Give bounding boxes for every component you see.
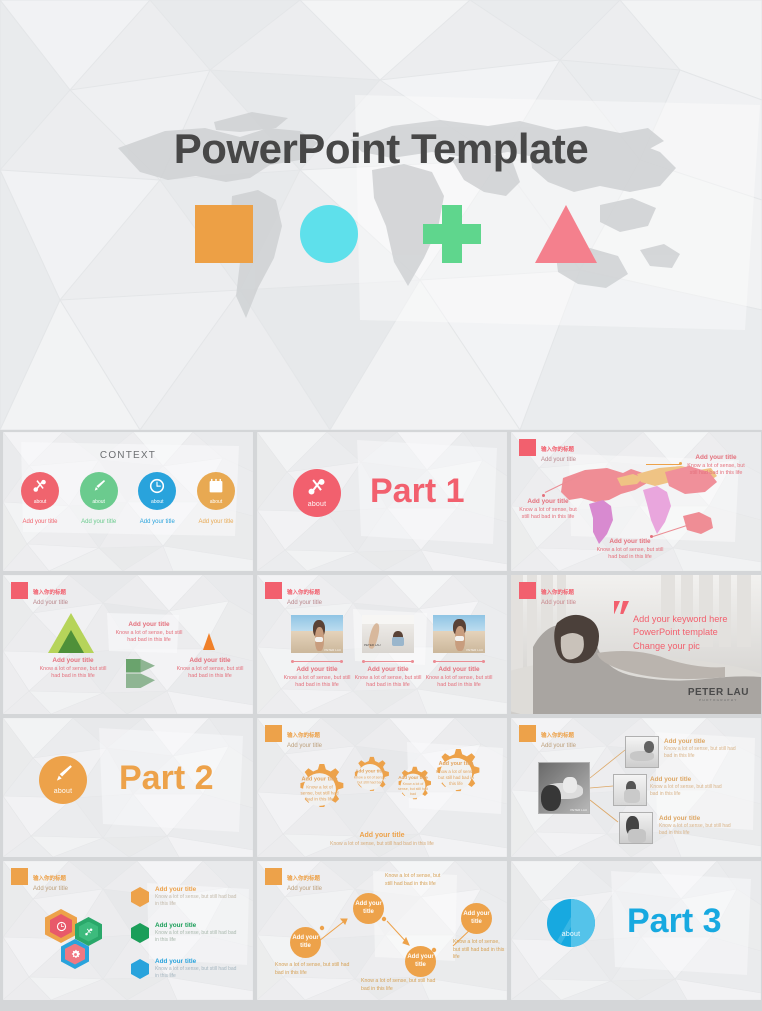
gear-shape[interactable]: Add your title Know a lot of sense, but …	[430, 748, 482, 800]
pie-icon	[547, 899, 595, 947]
caption-title: Add your title	[425, 666, 493, 674]
context-item-label: Add your title	[17, 519, 63, 525]
map-callout-2: Add your title Know a lot of sense, but …	[517, 498, 579, 521]
chip-title-en: Add your title	[287, 743, 322, 749]
caption-title: Add your title	[175, 657, 245, 665]
context-item-brush[interactable]: about Add your title	[76, 472, 122, 525]
scissors-icon	[306, 476, 328, 498]
connector-line	[362, 661, 414, 662]
node-title: Add your title	[405, 954, 436, 969]
gear-shape[interactable]: Add your title Know a lot of sense, but …	[349, 756, 391, 798]
gear-shape[interactable]: Add your title Know a lot of sense, but …	[393, 766, 433, 806]
brush-icon	[90, 477, 107, 494]
clock-icon-circle[interactable]: about	[138, 472, 176, 510]
caption-desc: Know a lot of sense, but still had bad i…	[650, 784, 730, 798]
callout-title: Add your title	[595, 538, 665, 546]
gear-shape[interactable]: Add your title Know a lot of sense, but …	[293, 763, 346, 816]
callout-desc: Know a lot of sense, but still had bad i…	[597, 547, 664, 560]
about-label: about	[210, 499, 223, 505]
slide-header-chip: 输入你的标题 Add your title	[11, 868, 68, 892]
gear-title: Add your title	[299, 776, 340, 784]
zigzag-node-2[interactable]: Add your title	[353, 893, 384, 924]
footer-desc: Know a lot of sense, but still had bad i…	[257, 841, 507, 847]
slide-thumb-hexagons[interactable]: 输入你的标题 Add your title Add your title Kno…	[3, 861, 253, 1000]
gears-footer: Add your title Know a lot of sense, but …	[257, 832, 507, 847]
caption-title: Add your title	[113, 621, 185, 629]
brush-icon-circle[interactable]: about	[80, 472, 118, 510]
caption-desc: Know a lot of sense, but still had bad i…	[177, 666, 244, 679]
callout-title: Add your title	[517, 498, 579, 506]
caption-title: Add your title	[354, 666, 422, 674]
gear-desc: Know a lot of sense, but still had bad	[354, 776, 386, 785]
chip-title-cn: 输入你的标题	[33, 590, 66, 596]
part2-label: Part 2	[119, 759, 214, 798]
photo-caption-3: Add your title Know a lot of sense, but …	[425, 666, 493, 689]
about-label: about	[92, 499, 105, 505]
slide-thumb-part1[interactable]: about Part 1	[257, 432, 507, 571]
triangle-inner-shape	[58, 630, 84, 653]
caption-desc: Know a lot of sense, but still had bad i…	[40, 666, 107, 679]
item-title: Add your title	[155, 958, 241, 965]
slide-thumb-shapes[interactable]: 输入你的标题 Add your title Add your title Kno…	[3, 575, 253, 714]
shape-caption-3: Add your title Know a lot of sense, but …	[175, 657, 245, 680]
caption-title: Add your title	[283, 666, 351, 674]
caption-desc: Know a lot of sense, but still had bad i…	[659, 823, 739, 837]
fan-caption-3: Add your title Know a lot of sense, but …	[659, 815, 739, 837]
context-item-label: Add your title	[134, 519, 180, 525]
chip-swatch	[265, 725, 282, 742]
chip-title-en: Add your title	[287, 600, 322, 606]
item-desc: Know a lot of sense, but still had bad i…	[155, 930, 241, 944]
context-item-clock[interactable]: about Add your title	[134, 472, 180, 525]
chip-title-en: Add your title	[541, 600, 576, 606]
map-callout-1: Add your title Know a lot of sense, but …	[683, 454, 749, 477]
node-title: Add your title	[353, 901, 384, 916]
chip-swatch	[519, 582, 536, 599]
about-label: about	[308, 501, 327, 508]
context-item-label: Add your title	[76, 519, 122, 525]
part1-about-circle[interactable]: about	[293, 469, 341, 517]
hero-shape-row	[195, 205, 595, 270]
brush-icon	[51, 762, 75, 786]
slide-thumb-quote[interactable]: 输入你的标题 Add your title Add your keyword h…	[511, 575, 761, 714]
slide-header-chip: 输入你的标题 Add your title	[519, 582, 576, 606]
caption-title: Add your title	[37, 657, 109, 665]
quote-mark-icon	[614, 601, 630, 617]
chip-title-cn: 输入你的标题	[33, 876, 66, 882]
leader-dot	[542, 494, 545, 497]
context-item-scissors[interactable]: about Add your title	[17, 472, 63, 525]
orange-square-shape	[195, 205, 253, 263]
connector-line	[433, 661, 485, 662]
watermark-name: PETER LAU	[688, 687, 749, 698]
zigzag-desc-2: Know a lot of sense, but still had bad i…	[385, 873, 445, 888]
part3-label: Part 3	[627, 902, 722, 941]
slide-thumb-photo-fan[interactable]: 输入你的标题 Add your title PETER LAU Add your…	[511, 718, 761, 857]
node-title: Add your title	[461, 911, 492, 926]
gear-desc: Know a lot of sense, but still had bad	[398, 782, 428, 796]
chip-title-cn: 输入你的标题	[287, 733, 320, 739]
clock-icon	[149, 477, 166, 494]
slide-header-chip: 输入你的标题 Add your title	[265, 582, 322, 606]
connector-dot	[433, 660, 436, 663]
scissors-icon	[32, 477, 49, 494]
zigzag-desc-3: Know a lot of sense, but still had bad i…	[361, 978, 439, 993]
about-label: about	[562, 931, 581, 938]
connector-dot	[411, 660, 414, 663]
scissors-icon-circle[interactable]: about	[21, 472, 59, 510]
item-title: Add your title	[155, 922, 241, 929]
photo-caption-2: Add your title Know a lot of sense, but …	[354, 666, 422, 689]
gear-title: Add your title	[354, 769, 387, 775]
slide-thumb-three-photos[interactable]: 输入你的标题 Add your title PETER LAU Add your…	[257, 575, 507, 714]
chip-title-en: Add your title	[33, 600, 68, 606]
chip-swatch	[11, 582, 28, 599]
slide-thumbnail-grid: CONTEXT about Add your title about	[0, 430, 762, 1011]
leader-dot	[650, 535, 653, 538]
chip-title-cn: 输入你的标题	[541, 447, 574, 453]
slide-thumb-context[interactable]: CONTEXT about Add your title about	[3, 432, 253, 571]
slide-thumb-world-map[interactable]: 输入你的标题 Add your title Add your title Kno…	[511, 432, 761, 571]
node-title: Add your title	[290, 935, 321, 950]
slide-thumb-gears[interactable]: 输入你的标题 Add your title Add your title Kno…	[257, 718, 507, 857]
caption-title: Add your title	[659, 815, 739, 822]
context-item-label: Add your title	[193, 519, 239, 525]
footer-title: Add your title	[257, 832, 507, 839]
gear-desc: Know a lot of sense, but still had bad i…	[300, 784, 338, 801]
gear-icon	[70, 949, 81, 960]
slide-thumb-part3[interactable]: about Part 3	[511, 861, 761, 1000]
about-label: about	[151, 499, 164, 505]
zigzag-node-3[interactable]: Add your title	[405, 946, 436, 977]
slide-header-chip: 输入你的标题 Add your title	[11, 582, 68, 606]
caption-desc: Know a lot of sense, but still had bad i…	[116, 630, 183, 643]
context-heading: CONTEXT	[3, 450, 253, 461]
connector-line	[291, 661, 343, 662]
chip-swatch	[265, 582, 282, 599]
hex-item-1: Add your title Know a lot of sense, but …	[155, 886, 241, 908]
leader-dot	[679, 462, 682, 465]
clock-icon	[56, 921, 67, 932]
gear-title: Add your title	[397, 775, 428, 781]
hex-item-3: Add your title Know a lot of sense, but …	[155, 958, 241, 980]
photo-thumbnail[interactable]: PETER LAU	[362, 615, 414, 653]
slide-thumb-zigzag[interactable]: 输入你的标题 Add your title Add your title Kno…	[257, 861, 507, 1000]
quote-text: Add your keyword here PowerPoint templat…	[633, 613, 755, 653]
scissors-icon	[84, 927, 94, 937]
caption-title: Add your title	[664, 738, 744, 745]
connector-dot	[482, 660, 485, 663]
photographer-watermark: PETER LAU PHOTOGRAPHY	[688, 687, 749, 702]
context-item-calendar[interactable]: about Add your title	[193, 472, 239, 525]
caption-desc: Know a lot of sense, but still had bad i…	[355, 675, 422, 688]
photo-thumbnail[interactable]	[613, 774, 647, 806]
chip-title-cn: 输入你的标题	[541, 590, 574, 596]
shape-caption-2: Add your title Know a lot of sense, but …	[113, 621, 185, 644]
zigzag-node-4[interactable]: Add your title	[461, 903, 492, 934]
callout-desc: Know a lot of sense, but still had bad i…	[687, 463, 745, 476]
quote-line-3: Change your pic	[633, 640, 755, 653]
about-label: about	[54, 788, 73, 795]
part3-about-circle[interactable]: about	[547, 899, 595, 947]
connector-dot	[291, 660, 294, 663]
item-title: Add your title	[155, 886, 241, 893]
gear-desc: Know a lot of sense, but still had bad i…	[436, 769, 476, 786]
callout-desc: Know a lot of sense, but still had bad i…	[519, 507, 577, 520]
zigzag-desc-4: Know a lot of sense, but still had bad i…	[453, 939, 505, 962]
chip-title-cn: 输入你的标题	[287, 590, 320, 596]
item-desc: Know a lot of sense, but still had bad i…	[155, 966, 241, 980]
caption-title: Add your title	[650, 776, 730, 783]
context-icon-row: about Add your title about Add your titl…	[17, 472, 239, 525]
slide-thumb-part2[interactable]: about Part 2	[3, 718, 253, 857]
green-cross-shape	[423, 205, 481, 263]
caption-desc: Know a lot of sense, but still had bad i…	[664, 746, 744, 760]
quote-line-2: PowerPoint template	[633, 626, 755, 639]
pink-triangle-shape	[535, 205, 597, 263]
gear-title: Add your title	[436, 761, 477, 768]
item-desc: Know a lot of sense, but still had bad i…	[155, 894, 241, 908]
calendar-icon-circle[interactable]: about	[197, 472, 235, 510]
part2-about-circle[interactable]: about	[39, 756, 87, 804]
zigzag-desc-1: Know a lot of sense, but still had bad i…	[275, 962, 353, 977]
slide-header-chip: 输入你的标题 Add your title	[265, 725, 322, 749]
photo-caption-1: Add your title Know a lot of sense, but …	[283, 666, 351, 689]
caption-desc: Know a lot of sense, but still had bad i…	[426, 675, 493, 688]
zigzag-node-1[interactable]: Add your title	[290, 927, 321, 958]
fan-caption-2: Add your title Know a lot of sense, but …	[650, 776, 730, 798]
calendar-icon	[207, 477, 224, 494]
b-shape-graphic	[126, 659, 155, 688]
caption-desc: Know a lot of sense, but still had bad i…	[284, 675, 351, 688]
page-title: PowerPoint Template	[0, 125, 762, 173]
chip-title-en: Add your title	[33, 886, 68, 892]
callout-title: Add your title	[683, 454, 749, 462]
shape-caption-1: Add your title Know a lot of sense, but …	[37, 657, 109, 680]
small-triangle-shape	[203, 633, 215, 650]
leader-line	[646, 464, 680, 465]
about-label: about	[34, 499, 47, 505]
part1-label: Part 1	[370, 472, 465, 511]
cyan-circle-shape	[300, 205, 358, 263]
fan-caption-1: Add your title Know a lot of sense, but …	[664, 738, 744, 760]
connector-dot	[340, 660, 343, 663]
photo-thumbnail[interactable]: PETER LAU	[291, 615, 343, 653]
photo-thumbnail[interactable]	[619, 812, 653, 844]
chip-swatch	[11, 868, 28, 885]
connector-dot	[362, 660, 365, 663]
quote-line-1: Add your keyword here	[633, 613, 755, 626]
watermark-subtitle: PHOTOGRAPHY	[688, 698, 749, 702]
main-photo[interactable]: PETER LAU	[538, 762, 590, 814]
hex-item-2: Add your title Know a lot of sense, but …	[155, 922, 241, 944]
map-callout-3: Add your title Know a lot of sense, but …	[595, 538, 665, 561]
hero-slide[interactable]: PowerPoint Template	[0, 0, 762, 430]
photo-thumbnail[interactable]: PETER LAU	[433, 615, 485, 653]
photo-thumbnail[interactable]	[625, 736, 659, 768]
chip-swatch	[519, 439, 536, 456]
